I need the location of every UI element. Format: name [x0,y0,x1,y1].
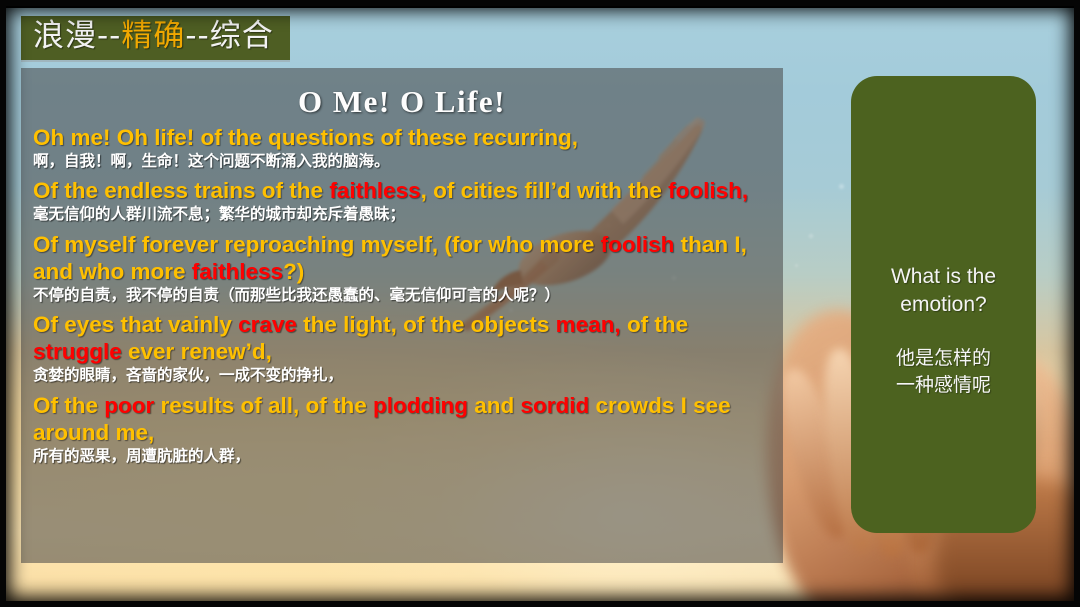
question-chinese-line-1: 他是怎样的 [851,345,1036,372]
poem-text-segment: Of the [33,393,104,418]
question-english-line-1: What is the [851,263,1036,291]
poem-keyword-highlight: struggle [33,339,122,364]
question-english-line-2: emotion? [851,291,1036,319]
question-chinese: 他是怎样的 一种感情呢 [851,345,1036,398]
poem-text-segment: Of the endless trains of the [33,178,329,203]
poem-stanza-list: Oh me! Oh life! of the questions of thes… [21,124,783,466]
question-chinese-line-2: 一种感情呢 [851,372,1036,399]
question-card[interactable]: What is the emotion? 他是怎样的 一种感情呢 [851,76,1036,533]
title-separator-1: -- [97,18,121,54]
poem-text-segment: of the [621,312,689,337]
slide: 浪漫--精确--综合 O Me! O Life! Oh me! Oh life!… [0,0,1080,607]
poem-keyword-highlight: poor [104,393,154,418]
bokeh-dot [809,234,813,238]
poem-text-segment: ?) [283,259,304,284]
poem-keyword-highlight: mean, [556,312,621,337]
bokeh-dot [839,184,844,189]
title-part-1: 浪漫 [33,18,97,54]
poem-keyword-highlight: crave [238,312,297,337]
poem-keyword-highlight: faithless [329,178,420,203]
poem-text-segment: , of cities fill’d with the [421,178,669,203]
poem-text-segment: ever renew’d, [122,339,272,364]
slide-title-tab: 浪漫--精确--综合 [21,16,290,62]
poem-line-translation: 不停的自责，我不停的自责（而那些比我还愚蠢的、毫无信仰可言的人呢？） [33,286,773,305]
poem-keyword-highlight: foolish, [668,178,748,203]
poem-keyword-highlight: faithless [192,259,283,284]
bokeh-dot [795,264,798,267]
poem-line-translation: 所有的恶果，周遭肮脏的人群， [33,447,773,466]
page-title: 浪漫--精确--综合 [33,19,274,54]
poem-text-segment: Oh me! Oh life! of the questions of thes… [33,125,578,150]
poem-heading: O Me! O Life! [21,84,783,120]
poem-text-segment: results of all, of the [154,393,373,418]
poem-line-english: Of eyes that vainly crave the light, of … [33,311,773,365]
question-card-content: What is the emotion? 他是怎样的 一种感情呢 [851,263,1036,398]
poem-line-english: Of the endless trains of the faithless, … [33,177,773,204]
poem-keyword-highlight: plodding [373,393,468,418]
poem-keyword-highlight: foolish [601,232,675,257]
poem-line-translation: 贪婪的眼睛，吝啬的家伙，一成不变的挣扎， [33,366,773,385]
poem-line-translation: 毫无信仰的人群川流不息；繁华的城市却充斥着愚昧； [33,205,773,224]
title-part-2: 精确 [121,18,185,54]
poem-line-english: Of myself forever reproaching myself, (f… [33,231,773,285]
question-english: What is the emotion? [851,263,1036,319]
poem-text-segment: the light, of the objects [297,312,556,337]
title-part-3: 综合 [210,18,274,54]
poem-text-segment: Of eyes that vainly [33,312,238,337]
poem-panel: O Me! O Life! Oh me! Oh life! of the que… [21,68,783,563]
poem-line-english: Oh me! Oh life! of the questions of thes… [33,124,773,151]
poem-text-segment: and [468,393,521,418]
poem-keyword-highlight: sordid [521,393,590,418]
poem-line-english: Of the poor results of all, of the plodd… [33,392,773,446]
poem-line-translation: 啊，自我！啊，生命！这个问题不断涌入我的脑海。 [33,152,773,171]
title-separator-2: -- [185,18,209,54]
poem-text-segment: Of myself forever reproaching myself, (f… [33,232,601,257]
